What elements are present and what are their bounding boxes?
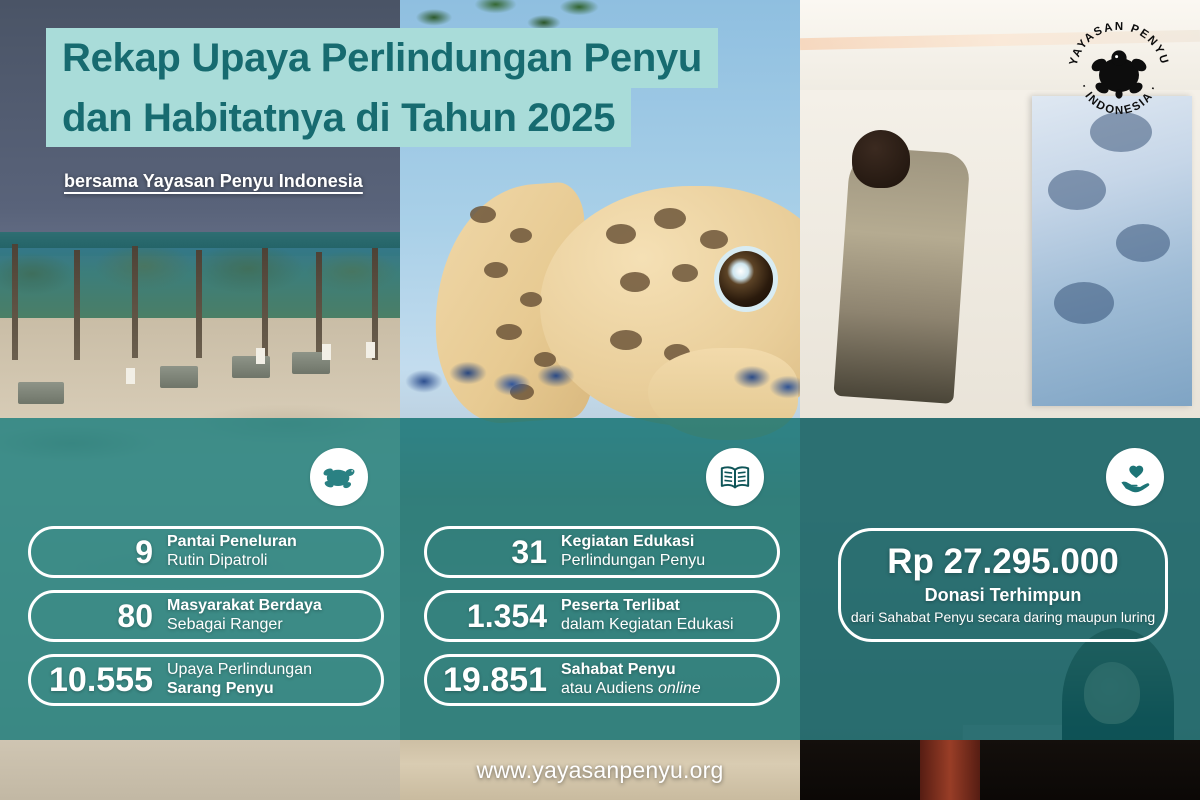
stat-label-line-2: Rutin Dipatroli — [167, 552, 297, 571]
donation-caption-line-1: Donasi Terhimpun — [925, 585, 1082, 607]
stat-label-line-1: Masyarakat Berdaya — [167, 597, 322, 616]
title-line-2: dan Habitatnya di Tahun 2025 — [46, 88, 631, 148]
logo-turtle-icon — [1089, 50, 1148, 98]
stat-label-line-2-italic: online — [658, 680, 701, 697]
stat-number: 9 — [31, 536, 153, 568]
stat-label-line-2: atau Audiens online — [561, 680, 701, 699]
open-book-icon — [718, 460, 752, 494]
stat-number: 31 — [427, 536, 547, 568]
stat-label: Kegiatan Edukasi Perlindungan Penyu — [561, 533, 705, 570]
stat-pill-pantai-peneluran[interactable]: 9 Pantai Peneluran Rutin Dipatroli — [28, 526, 384, 578]
stat-label-line-2: dalam Kegiatan Edukasi — [561, 616, 734, 635]
stat-number: 80 — [31, 600, 153, 632]
website-url[interactable]: www.yayasanpenyu.org — [400, 740, 800, 800]
stat-label-line-2-plain: atau Audiens — [561, 680, 658, 697]
stat-pill-masyarakat-berdaya[interactable]: 80 Masyarakat Berdaya Sebagai Ranger — [28, 590, 384, 642]
book-icon-badge — [706, 448, 764, 506]
hand-heart-icon-badge — [1106, 448, 1164, 506]
title-line-1: Rekap Upaya Perlindungan Penyu — [46, 28, 718, 88]
stat-pill-peserta-terlibat[interactable]: 1.354 Peserta Terlibat dalam Kegiatan Ed… — [424, 590, 780, 642]
brand-logo: · YAYASAN PENYU · · INDONESIA · — [1060, 14, 1178, 132]
stat-label: Sahabat Penyu atau Audiens online — [561, 661, 701, 698]
stat-label-line-1: Peserta Terlibat — [561, 597, 734, 616]
infographic-poster: www.yayasanpenyu.org Rekap Upaya Perlind… — [0, 0, 1200, 800]
stat-label-line-1: Upaya Perlindungan — [167, 661, 312, 680]
stat-label: Upaya Perlindungan Sarang Penyu — [167, 661, 312, 698]
hand-heart-icon — [1118, 460, 1152, 494]
stat-number: 1.354 — [427, 600, 547, 632]
stat-number: 19.851 — [427, 663, 547, 697]
stat-label: Masyarakat Berdaya Sebagai Ranger — [167, 597, 322, 634]
donation-amount: Rp 27.295.000 — [887, 544, 1119, 579]
stat-label-line-1: Pantai Peneluran — [167, 533, 297, 552]
donation-caption-line-2: dari Sahabat Penyu secara daring maupun … — [851, 608, 1155, 626]
footer-strip: www.yayasanpenyu.org — [0, 740, 1200, 800]
stat-label-line-1: Kegiatan Edukasi — [561, 533, 705, 552]
stat-pill-kegiatan-edukasi[interactable]: 31 Kegiatan Edukasi Perlindungan Penyu — [424, 526, 780, 578]
stat-label-line-2: Sarang Penyu — [167, 680, 312, 699]
page-title: Rekap Upaya Perlindungan Penyu dan Habit… — [46, 28, 706, 192]
stat-pill-sahabat-penyu[interactable]: 19.851 Sahabat Penyu atau Audiens online — [424, 654, 780, 706]
stat-label: Peserta Terlibat dalam Kegiatan Edukasi — [561, 597, 734, 634]
turtle-icon-badge — [310, 448, 368, 506]
stat-label-line-2: Perlindungan Penyu — [561, 552, 705, 571]
stat-pill-sarang-penyu[interactable]: 10.555 Upaya Perlindungan Sarang Penyu — [28, 654, 384, 706]
turtle-icon — [321, 459, 357, 495]
page-subtitle: bersama Yayasan Penyu Indonesia — [64, 171, 363, 192]
stat-label: Pantai Peneluran Rutin Dipatroli — [167, 533, 297, 570]
stat-label-line-2: Sebagai Ranger — [167, 616, 322, 635]
stat-label-line-1: Sahabat Penyu — [561, 661, 701, 680]
donation-card[interactable]: Rp 27.295.000 Donasi Terhimpun dari Saha… — [838, 528, 1168, 642]
stat-number: 10.555 — [31, 663, 153, 697]
